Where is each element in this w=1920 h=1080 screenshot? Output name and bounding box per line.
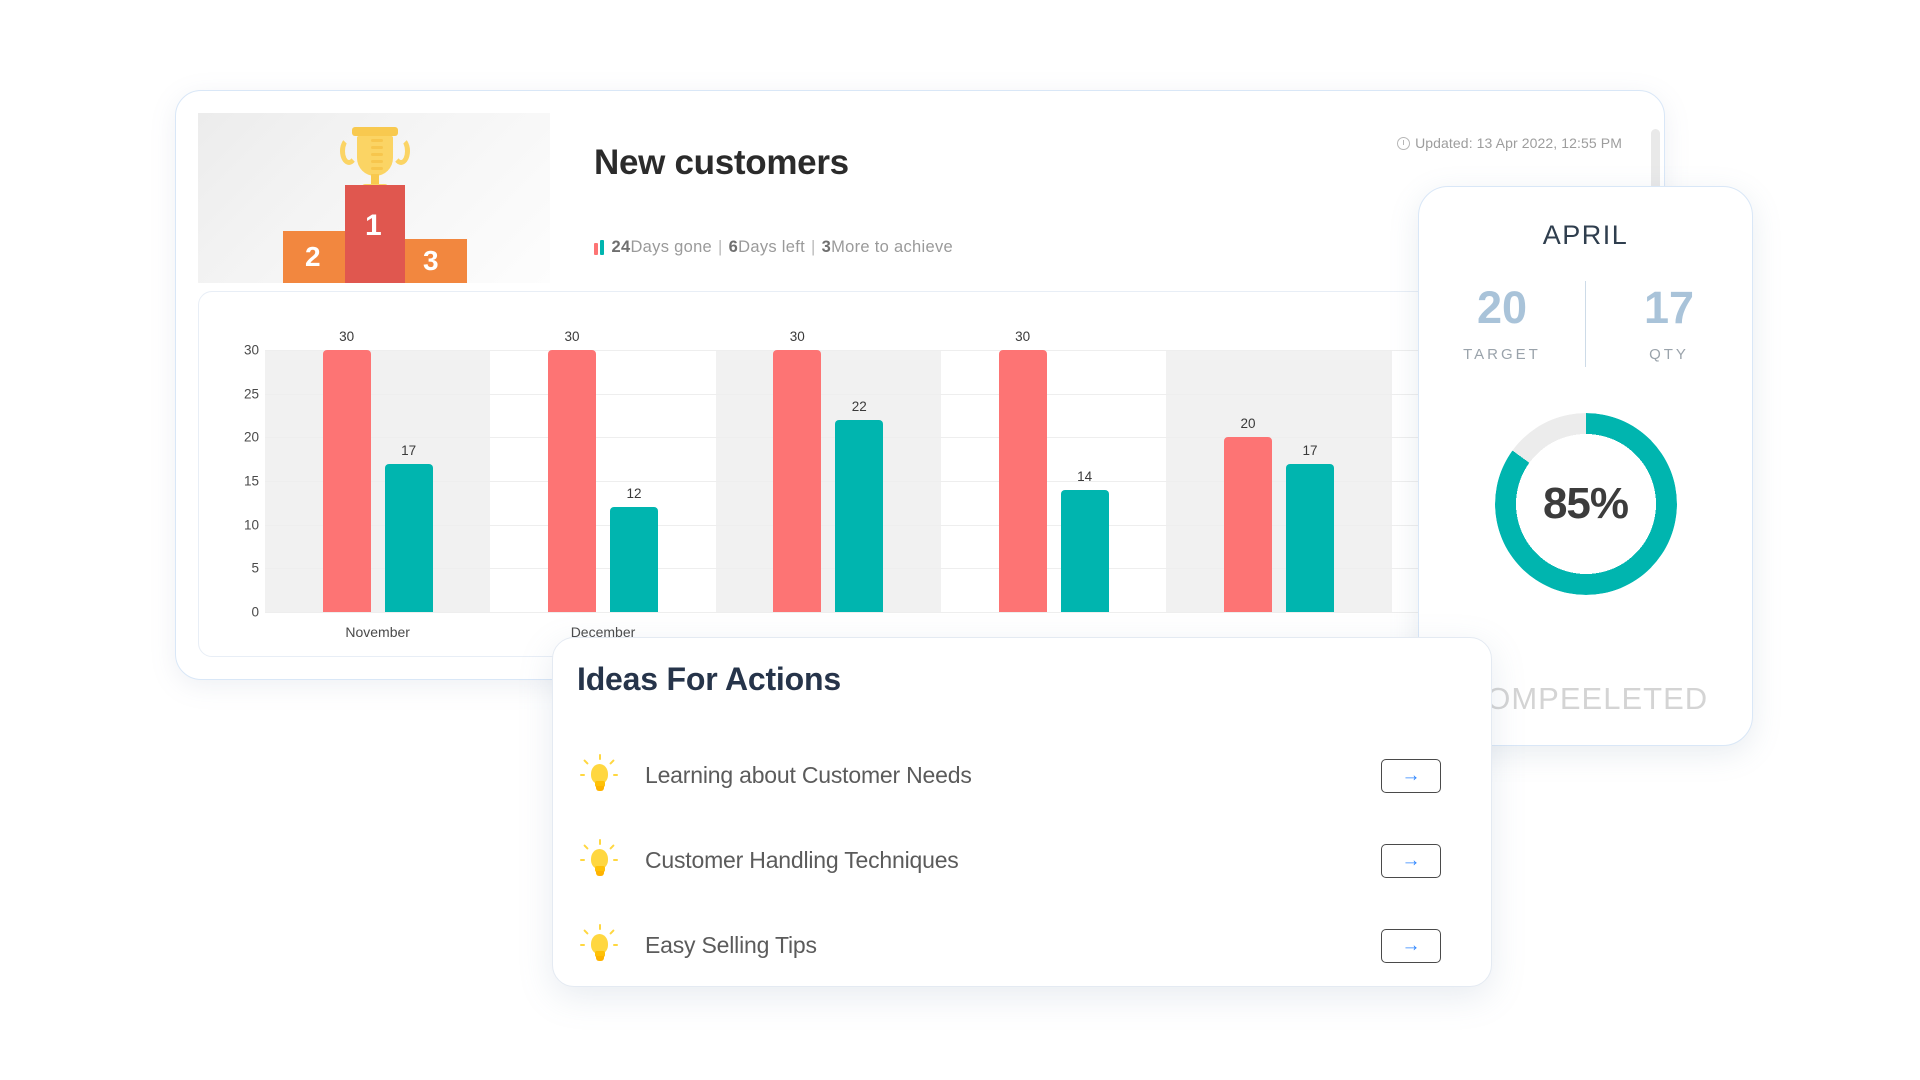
idea-row[interactable]: Learning about Customer Needs→: [553, 733, 1491, 818]
ideas-title: Ideas For Actions: [577, 661, 841, 698]
bar-actual-february[interactable]: 14: [1061, 490, 1109, 612]
bar-group-march: 2017: [1166, 350, 1391, 612]
gridline: [265, 612, 1617, 613]
bar-target-november[interactable]: 30: [323, 350, 371, 612]
ideas-for-actions-card: Ideas For Actions Learning about Custome…: [552, 637, 1492, 987]
page-title: New customers: [594, 143, 849, 183]
bar-target-december[interactable]: 30: [548, 350, 596, 612]
completion-donut-chart: 85%: [1495, 413, 1677, 595]
chart-plot-area: 302520151050 301730123022301420172017 No…: [199, 340, 1631, 656]
bar-target-january[interactable]: 30: [773, 350, 821, 612]
idea-go-button[interactable]: →: [1381, 759, 1441, 793]
bar-actual-january[interactable]: 22: [835, 420, 883, 612]
bar-target-february[interactable]: 30: [999, 350, 1047, 612]
bar-group-december: 3012: [490, 350, 715, 612]
y-tick-0: 0: [251, 605, 259, 620]
y-tick-5: 5: [251, 561, 259, 576]
days-gone-label: Days gone: [630, 238, 712, 257]
y-tick-20: 20: [244, 430, 259, 445]
bar-value-label: 17: [401, 443, 416, 458]
bar-actual-november[interactable]: 17: [385, 464, 433, 612]
y-tick-10: 10: [244, 517, 259, 532]
bar-value-label: 20: [1240, 416, 1255, 431]
bar-value-label: 30: [339, 329, 354, 344]
days-gone-value: 24: [612, 238, 631, 257]
kpi-qty-label: QTY: [1586, 346, 1752, 363]
kpi-target-value: 20: [1419, 285, 1585, 330]
idea-label: Easy Selling Tips: [645, 932, 1381, 959]
idea-row[interactable]: Customer Handling Techniques→: [553, 818, 1491, 903]
bar-group-november: 3017: [265, 350, 490, 612]
chart-bars: 301730123022301420172017: [265, 350, 1617, 612]
kpi-row: 20 TARGET 17 QTY: [1419, 281, 1752, 367]
bar-group-february: 3014: [941, 350, 1166, 612]
bar-value-label: 17: [1302, 443, 1317, 458]
clock-icon: [1397, 137, 1410, 150]
bar-value-label: 12: [626, 486, 641, 501]
trophy-cup-icon: [344, 127, 406, 193]
y-tick-30: 30: [244, 343, 259, 358]
idea-go-button[interactable]: →: [1381, 929, 1441, 963]
trophy-illustration: 2 1 3: [198, 113, 550, 283]
chart-grid: 301730123022301420172017: [265, 350, 1617, 612]
donut-percent-label: 85%: [1495, 413, 1677, 595]
lightbulb-icon: [577, 924, 621, 968]
lightbulb-icon: [577, 754, 621, 798]
bar-actual-december[interactable]: 12: [610, 507, 658, 612]
bar-value-label: 30: [1015, 329, 1030, 344]
idea-go-button[interactable]: →: [1381, 844, 1441, 878]
updated-timestamp: Updated: 13 Apr 2022, 12:55 PM: [1397, 135, 1622, 151]
idea-label: Learning about Customer Needs: [645, 762, 1381, 789]
bar-actual-march[interactable]: 17: [1286, 464, 1334, 612]
days-left-label: Days left: [738, 238, 805, 257]
y-axis-ticks: 302520151050: [213, 350, 259, 612]
x-tick-november: November: [265, 624, 490, 640]
more-to-achieve-label: More to achieve: [831, 238, 953, 257]
status-separator-2: |: [811, 238, 816, 257]
podium-rank-3: 3: [423, 245, 439, 277]
idea-row[interactable]: Easy Selling Tips→: [553, 903, 1491, 988]
lightbulb-icon: [577, 839, 621, 883]
bar-target-march[interactable]: 20: [1224, 437, 1272, 612]
updated-text: Updated: 13 Apr 2022, 12:55 PM: [1415, 135, 1622, 151]
podium-rank-1: 1: [365, 209, 382, 243]
days-left-value: 6: [729, 238, 738, 257]
more-to-achieve-value: 3: [822, 238, 831, 257]
mini-bar-chart-icon: [594, 240, 604, 255]
status-separator-1: |: [718, 238, 723, 257]
y-tick-15: 15: [244, 474, 259, 489]
bar-value-label: 30: [564, 329, 579, 344]
bar-group-january: 3022: [716, 350, 941, 612]
podium-rank-2: 2: [305, 241, 321, 273]
dashboard-canvas: 2 1 3 New customers 24 Days gone | 6: [0, 0, 1920, 1080]
kpi-target-label: TARGET: [1419, 346, 1585, 363]
idea-label: Customer Handling Techniques: [645, 847, 1381, 874]
ideas-list: Learning about Customer Needs→Customer H…: [553, 733, 1491, 988]
kpi-qty: 17 QTY: [1586, 285, 1752, 363]
status-summary: 24 Days gone | 6 Days left | 3 More to a…: [594, 238, 953, 257]
month-title: APRIL: [1419, 220, 1752, 251]
y-tick-25: 25: [244, 386, 259, 401]
bar-value-label: 22: [852, 399, 867, 414]
kpi-qty-value: 17: [1586, 285, 1752, 330]
bar-value-label: 30: [790, 329, 805, 344]
bar-value-label: 14: [1077, 469, 1092, 484]
kpi-target: 20 TARGET: [1419, 285, 1585, 363]
